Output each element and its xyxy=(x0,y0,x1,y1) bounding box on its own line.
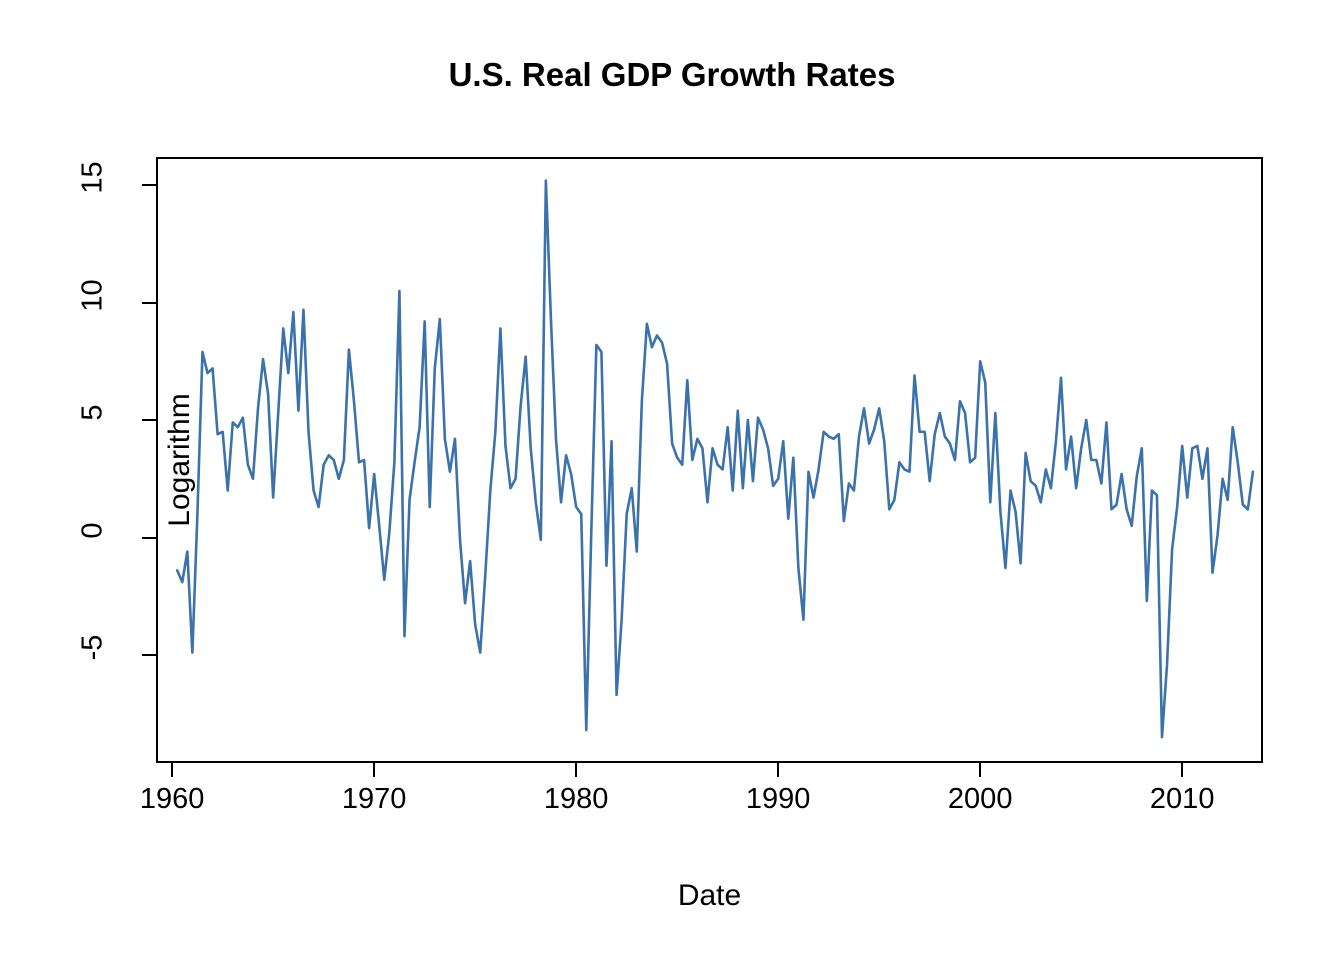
y-axis-title: Logarithm xyxy=(158,157,202,763)
y-tick-label-text: 15 xyxy=(78,162,107,194)
x-tick-mark xyxy=(1181,763,1183,777)
y-tick-mark xyxy=(142,419,156,421)
y-tick-mark xyxy=(142,654,156,656)
y-tick-label-text: 0 xyxy=(78,522,107,538)
x-axis-title: Date xyxy=(156,879,1263,913)
chart-figure: U.S. Real GDP Growth Rates -5051015 1960… xyxy=(0,0,1344,960)
x-tick-label: 1980 xyxy=(544,783,609,816)
gdp-growth-line-series xyxy=(156,157,1263,763)
x-tick-label: 1970 xyxy=(342,783,407,816)
x-tick-label: 1990 xyxy=(746,783,811,816)
plot-area: -5051015 196019701980199020002010 Logari… xyxy=(156,157,1263,763)
y-tick-label-text: -5 xyxy=(78,635,107,661)
x-tick-mark xyxy=(979,763,981,777)
x-tick-mark xyxy=(575,763,577,777)
x-tick-mark xyxy=(373,763,375,777)
y-tick-label: -5 xyxy=(58,633,128,662)
y-tick-label-text: 5 xyxy=(78,404,107,420)
y-tick-mark xyxy=(142,184,156,186)
page-title: U.S. Real GDP Growth Rates xyxy=(0,56,1344,94)
y-tick-label-text: 10 xyxy=(78,279,107,311)
x-tick-label: 2000 xyxy=(948,783,1013,816)
series-polyline xyxy=(177,180,1253,737)
x-tick-label: 1960 xyxy=(140,783,205,816)
y-tick-mark xyxy=(142,537,156,539)
y-tick-label: 5 xyxy=(58,398,128,427)
y-tick-label: 10 xyxy=(58,281,128,310)
y-tick-label: 15 xyxy=(58,163,128,192)
y-tick-mark xyxy=(142,302,156,304)
x-tick-mark xyxy=(777,763,779,777)
x-tick-label: 2010 xyxy=(1150,783,1215,816)
y-tick-label: 0 xyxy=(58,516,128,545)
x-tick-mark xyxy=(171,763,173,777)
